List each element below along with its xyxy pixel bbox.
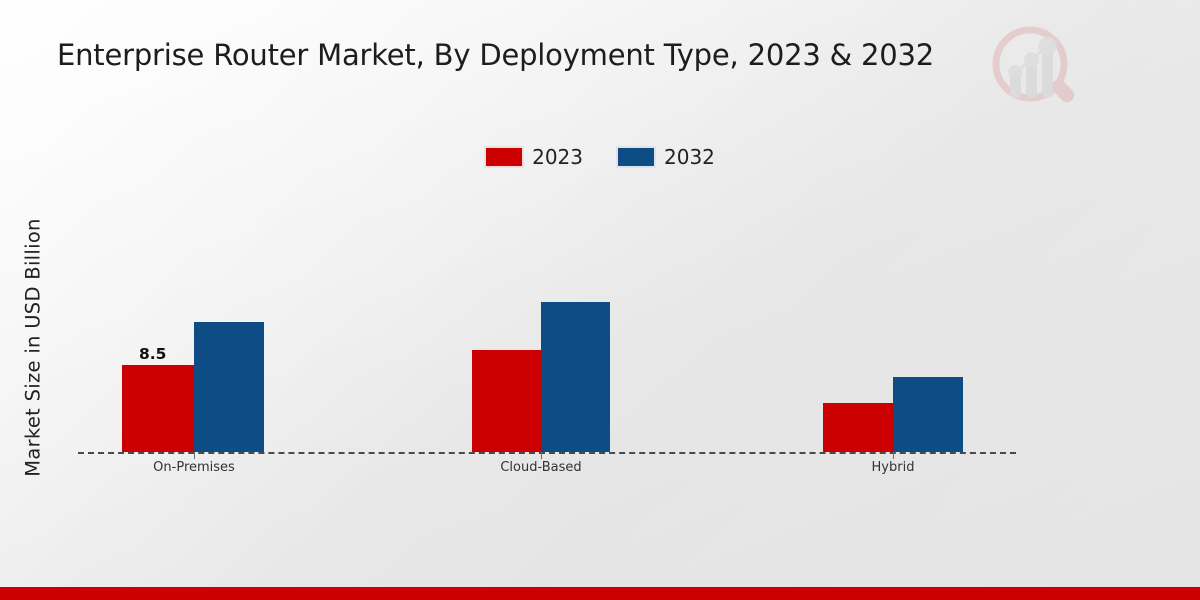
x-axis-tick-on-premises [194,452,195,459]
data-label-on-premises-2023: 8.5 [139,345,166,363]
bar-cloud-based-2032[interactable] [541,302,610,452]
x-axis-label-hybrid: Hybrid [872,460,915,475]
bar-cloud-based-2023[interactable] [472,350,541,452]
x-axis-tick-hybrid [893,452,894,459]
plot-area: 8.5 On-Premises Cloud-Based Hybrid [0,0,1200,600]
x-axis-tick-cloud-based [541,452,542,459]
bar-on-premises-2032[interactable] [194,322,264,452]
x-axis-label-cloud-based: Cloud-Based [500,460,581,475]
bar-on-premises-2023[interactable] [122,365,194,452]
x-axis-baseline [78,452,1016,454]
bar-hybrid-2023[interactable] [823,403,893,452]
bottom-accent-bar [0,587,1200,600]
x-axis-label-on-premises: On-Premises [153,460,235,475]
chart-canvas: Enterprise Router Market, By Deployment … [0,0,1200,600]
bar-hybrid-2032[interactable] [893,377,963,452]
